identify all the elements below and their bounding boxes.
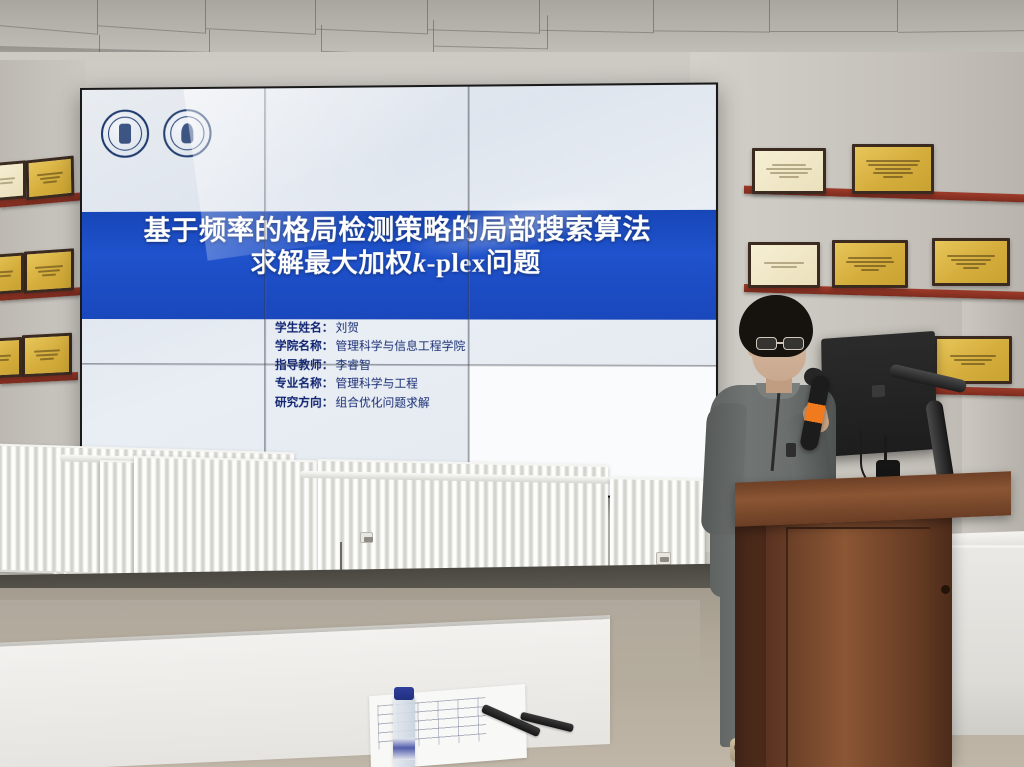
award-plaque <box>932 238 1010 286</box>
info-label: 学院名称 <box>275 339 322 355</box>
water-bottle-label <box>393 738 415 760</box>
slide-title-line2-post: 问题 <box>486 247 541 278</box>
slide-info-block: 学生姓名 ： 刘贺 学院名称 ： 管理科学与信息工程学院 指导教师 ： 李睿智 … <box>275 321 465 415</box>
info-colon: ： <box>322 377 334 393</box>
slide-title-line2: 求解最大加权k-plex问题 <box>82 247 716 280</box>
info-value: 刘贺 <box>335 321 358 337</box>
info-colon: ： <box>322 340 334 356</box>
slide-title: 基于频率的格局检测策略的局部搜索算法 求解最大加权k-plex问题 <box>82 214 716 280</box>
info-row-research: 研究方向 ： 组合优化问题求解 <box>275 395 465 412</box>
wall-outlet <box>656 552 671 565</box>
lectern-body <box>766 515 952 767</box>
university-emblem-right-icon <box>163 109 211 158</box>
award-plaque <box>0 160 26 201</box>
kplex-k: k <box>413 249 427 278</box>
slide-title-line2-pre: 求解最大加权 <box>251 248 413 279</box>
lectern-front-panel <box>786 527 930 767</box>
info-value: 李睿智 <box>335 358 370 374</box>
info-row-college: 学院名称 ： 管理科学与信息工程学院 <box>275 339 465 355</box>
slide-title-line1: 基于频率的格局检测策略的局部搜索算法 <box>82 214 716 248</box>
panel-seam-vertical <box>468 87 470 495</box>
lectern-side <box>735 495 769 767</box>
water-bottle-cap <box>394 687 414 700</box>
award-plaque <box>748 242 820 288</box>
kplex-suffix: -plex <box>427 248 486 278</box>
info-colon: ： <box>322 358 334 374</box>
info-label: 研究方向 <box>275 395 322 411</box>
award-plaque <box>852 144 934 194</box>
lectern-knob <box>941 585 950 594</box>
award-plaque <box>752 148 826 194</box>
info-colon: ： <box>322 396 334 412</box>
presentation-room-photo: 基于频率的格局检测策略的局部搜索算法 求解最大加权k-plex问题 学生姓名 ：… <box>0 0 1024 767</box>
info-label: 学生姓名 <box>275 321 322 337</box>
video-wall-display[interactable]: 基于频率的格局检测策略的局部搜索算法 求解最大加权k-plex问题 学生姓名 ：… <box>80 82 718 498</box>
info-row-major: 专业名称 ： 管理科学与工程 <box>275 377 465 393</box>
glasses-icon <box>756 337 808 350</box>
slide-emblems <box>101 109 212 158</box>
info-value: 管理科学与信息工程学院 <box>335 340 465 356</box>
lanyard-badge <box>786 443 796 457</box>
university-emblem-left-icon <box>101 110 149 158</box>
info-value: 组合优化问题求解 <box>335 396 429 412</box>
award-plaque <box>832 240 908 288</box>
info-row-student: 学生姓名 ： 刘贺 <box>275 321 465 337</box>
info-row-advisor: 指导教师 ： 李睿智 <box>275 358 465 374</box>
info-label: 专业名称 <box>275 377 322 393</box>
presentation-slide: 基于频率的格局检测策略的局部搜索算法 求解最大加权k-plex问题 学生姓名 ：… <box>82 85 716 497</box>
info-label: 指导教师 <box>275 358 322 374</box>
award-plaque <box>22 333 72 378</box>
slide-title-kplex: k-plex <box>413 248 486 278</box>
award-plaque <box>0 337 22 379</box>
award-plaque <box>26 156 75 201</box>
award-plaque <box>0 253 24 296</box>
info-value: 管理科学与工程 <box>335 377 417 393</box>
award-plaque <box>24 248 74 293</box>
info-colon: ： <box>322 321 334 337</box>
panel-seam-vertical <box>264 88 266 492</box>
